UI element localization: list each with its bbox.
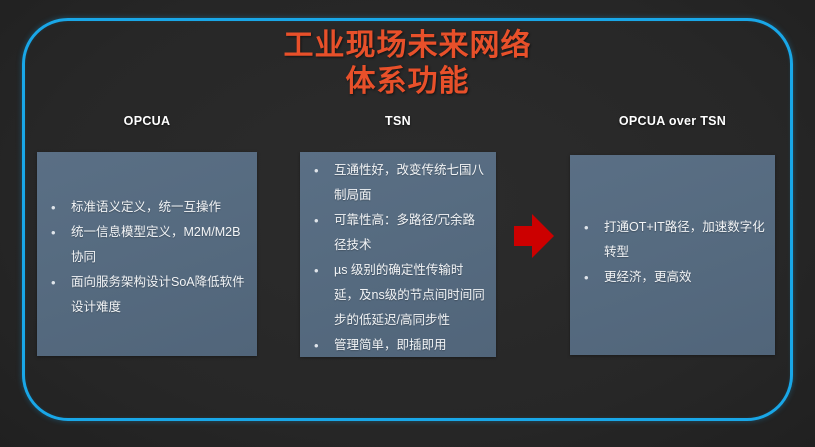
list-item-text: 管理简单，即插即用 [334, 333, 486, 358]
bullet-dot-icon: • [578, 265, 604, 290]
list-item-text: 面向服务架构设计SoA降低软件设计难度 [71, 270, 247, 320]
list-item-text: 可靠性高：多路径/冗余路径技术 [334, 208, 486, 258]
page-title: 工业现场未来网络 体系功能 [0, 28, 815, 100]
bullet-dot-icon: • [308, 208, 334, 233]
list-item-text: 互通性好，改变传统七国八制局面 [334, 158, 486, 208]
list-item: • 更经济，更高效 [578, 265, 765, 290]
column-header-opcua: OPCUA [37, 114, 257, 128]
list-item-text: µs 级别的确定性传输时延，及ns级的节点间时间同步的低延迟/高同步性 [334, 258, 486, 333]
bullet-list-opcua-over-tsn: • 打通OT+IT路径，加速数字化转型 • 更经济，更高效 [570, 215, 775, 290]
list-item-text: 标准语义定义，统一互操作 [71, 195, 247, 220]
list-item: • 互通性好，改变传统七国八制局面 [308, 158, 486, 208]
list-item: • 打通OT+IT路径，加速数字化转型 [578, 215, 765, 265]
column-header-tsn: TSN [300, 114, 496, 128]
column-header-opcua-over-tsn: OPCUA over TSN [570, 114, 775, 128]
page-title-line-2: 体系功能 [0, 64, 815, 100]
page-title-line-1: 工业现场未来网络 [0, 28, 815, 64]
list-item-text: 打通OT+IT路径，加速数字化转型 [604, 215, 765, 265]
list-item: • µs 级别的确定性传输时延，及ns级的节点间时间同步的低延迟/高同步性 [308, 258, 486, 333]
list-item: • 管理简单，即插即用 [308, 333, 486, 358]
list-item: • 标准语义定义，统一互操作 [45, 195, 247, 220]
bullet-dot-icon: • [308, 258, 334, 283]
bullet-dot-icon: • [45, 270, 71, 295]
bullet-dot-icon: • [45, 220, 71, 245]
bullet-dot-icon: • [578, 215, 604, 240]
red-right-arrow-icon [512, 212, 556, 260]
bullet-dot-icon: • [45, 195, 71, 220]
bullet-dot-icon: • [308, 333, 334, 358]
list-item: • 面向服务架构设计SoA降低软件设计难度 [45, 270, 247, 320]
bullet-list-opcua: • 标准语义定义，统一互操作 • 统一信息模型定义，M2M/M2B协同 • 面向… [37, 195, 257, 320]
list-item-text: 更经济，更高效 [604, 265, 765, 290]
list-item-text: 统一信息模型定义，M2M/M2B协同 [71, 220, 247, 270]
bullet-list-tsn: • 互通性好，改变传统七国八制局面 • 可靠性高：多路径/冗余路径技术 • µs… [300, 158, 496, 358]
list-item: • 统一信息模型定义，M2M/M2B协同 [45, 220, 247, 270]
list-item: • 可靠性高：多路径/冗余路径技术 [308, 208, 486, 258]
bullet-dot-icon: • [308, 158, 334, 183]
slide-canvas: 工业现场未来网络 体系功能 OPCUA • 标准语义定义，统一互操作 • 统一信… [0, 0, 815, 447]
